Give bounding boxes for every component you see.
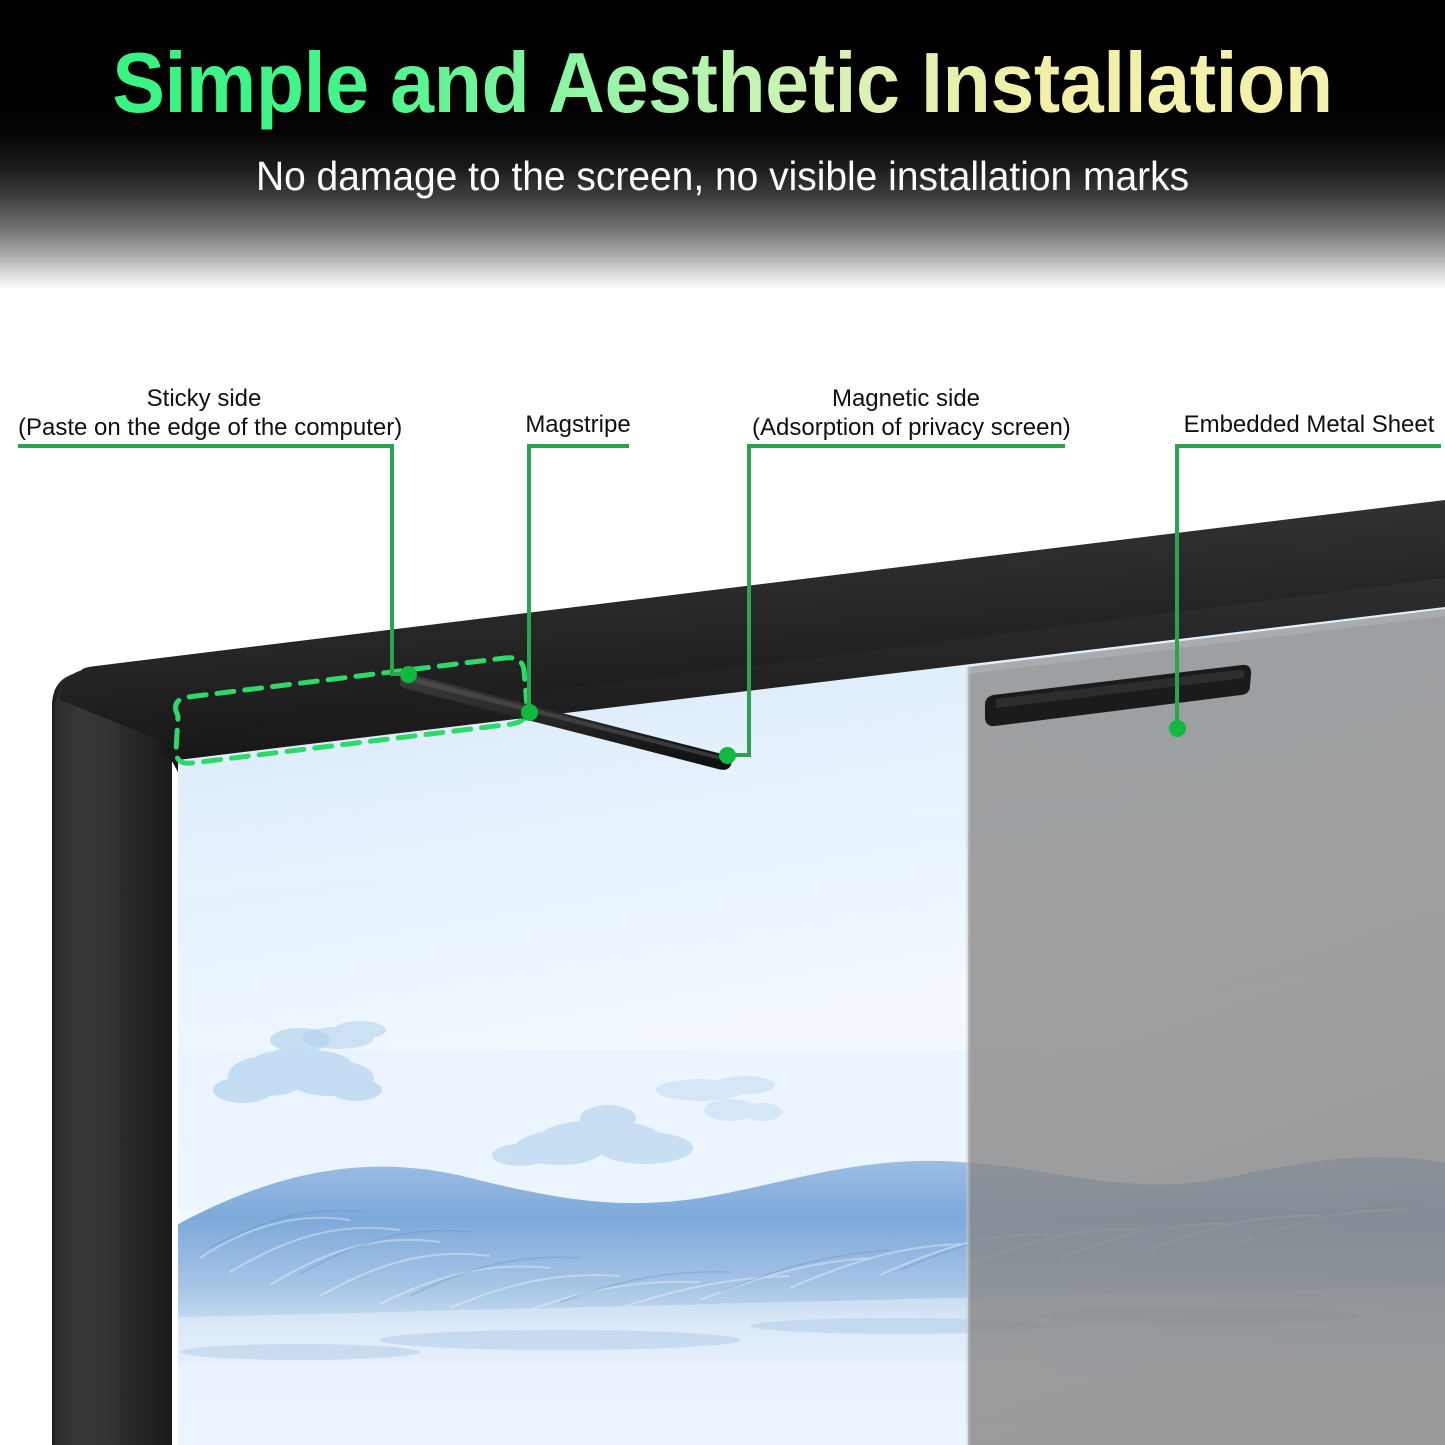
wallpaper-water [150,1285,1445,1445]
privacy-screen-overlay [966,609,1445,1445]
callout-sticky-line1: Sticky side [18,384,390,413]
embedded-metal-sheet-strip [985,665,1251,726]
page-title: Simple and Aesthetic Installation [51,36,1395,132]
header-banner: Simple and Aesthetic Installation No dam… [0,0,1445,290]
callout-line-sticky-vertical [390,444,394,676]
callout-magstripe-line1: Magstripe [478,410,678,439]
callout-dot-magnetic-side [719,747,736,764]
infographic-page: Simple and Aesthetic Installation No dam… [0,0,1445,1445]
callout-dot-magstripe [521,704,538,721]
callout-metal-line1: Embedded Metal Sheet [1173,410,1445,439]
callout-label-magnetic-side: Magnetic side (Adsorption of privacy scr… [752,384,1060,442]
wallpaper-dune [150,1157,1445,1330]
callout-sticky-line2: (Paste on the edge of the computer) [18,413,390,442]
callout-line-metal-horizontal [1175,444,1441,448]
callout-label-embedded-metal-sheet: Embedded Metal Sheet [1173,410,1445,439]
callout-line-sticky-horizontal [18,444,394,448]
callout-line-magnetic-vertical [747,444,751,755]
callout-dot-embedded-metal-sheet [1169,720,1186,737]
page-subtitle: No damage to the screen, no visible inst… [36,150,1409,202]
callout-dot-sticky-side [400,666,417,683]
callout-magnetic-line1: Magnetic side [752,384,1060,413]
callout-line-magnetic-horizontal [747,444,1065,448]
callout-label-magstripe: Magstripe [478,410,678,439]
callout-line-metal-vertical [1175,444,1179,730]
monitor-bezel-front [160,578,1445,772]
callout-magnetic-line2: (Adsorption of privacy screen) [752,413,1060,442]
callout-label-sticky-side: Sticky side (Paste on the edge of the co… [18,384,390,442]
magstripe-part [400,660,740,770]
monitor-top-bezel [81,500,1445,738]
monitor-side-panel [52,664,172,1445]
callout-line-magstripe-horizontal [527,444,629,448]
callout-line-magstripe-vertical [527,444,531,712]
monitor-screen [150,600,1445,1445]
